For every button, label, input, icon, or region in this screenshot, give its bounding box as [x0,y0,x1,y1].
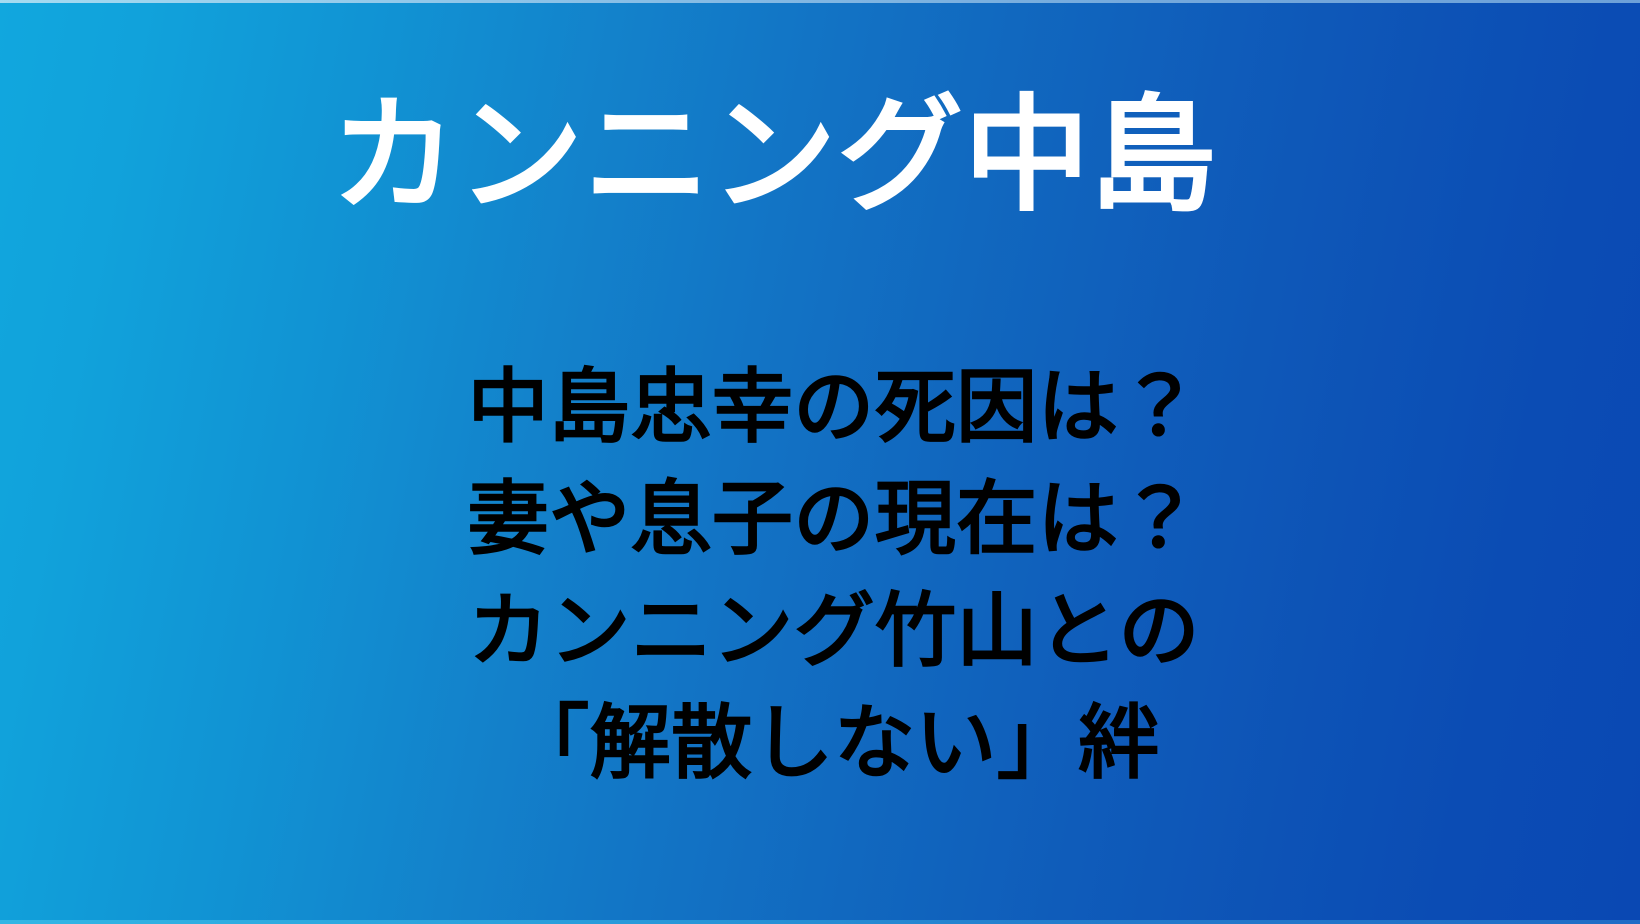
page-title: カンニング中島 [331,88,1217,224]
subtitle-line-2: 妻や息子の現在は？ [14,464,1640,576]
title-block: カンニング中島 [0,88,1640,224]
top-edge-strip [0,0,1640,3]
subtitle-line-1: 中島忠幸の死因は？ [14,352,1640,464]
subtitle-block: 中島忠幸の死因は？ 妻や息子の現在は？ カンニング竹山との 「解散しない」絆 [0,352,1640,800]
eyecatch-banner: カンニング中島 中島忠幸の死因は？ 妻や息子の現在は？ カンニング竹山との 「解… [0,0,1640,924]
subtitle-line-3: カンニング竹山との [14,576,1640,688]
subtitle-line-4: 「解散しない」絆 [14,688,1640,800]
bottom-edge-strip [0,920,1640,924]
